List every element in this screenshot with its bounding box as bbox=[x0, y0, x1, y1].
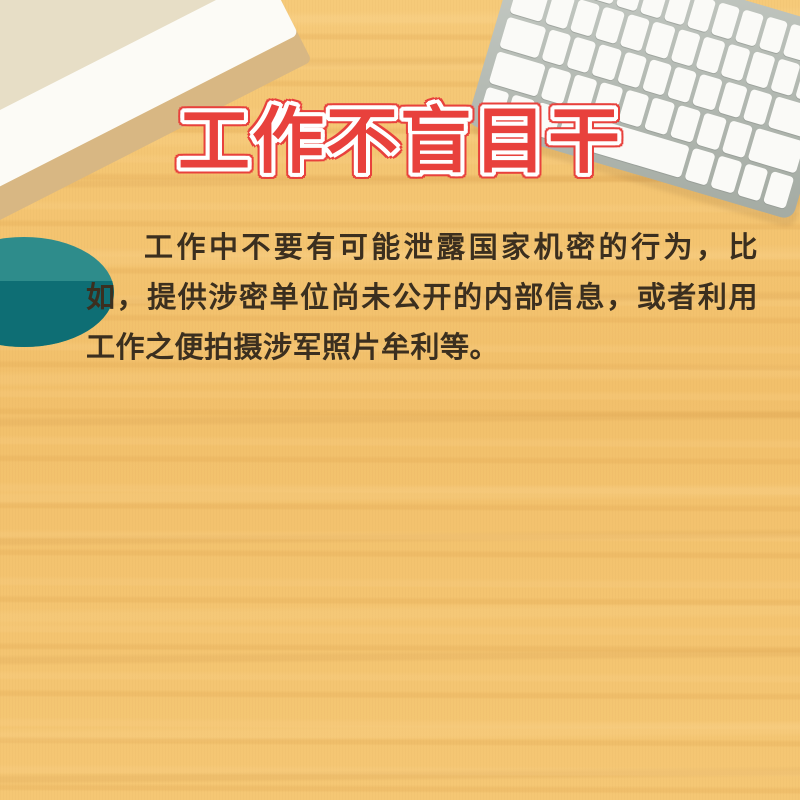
keyboard-key bbox=[720, 43, 750, 81]
keyboard-key bbox=[692, 73, 723, 111]
keyboard-body bbox=[466, 0, 800, 221]
keyboard-key bbox=[592, 44, 623, 82]
keyboard-key bbox=[645, 21, 675, 59]
keyboard-key-arrow bbox=[763, 171, 795, 209]
keyboard-key bbox=[717, 81, 748, 119]
keyboard-key bbox=[695, 36, 725, 74]
keyboard-key bbox=[696, 113, 727, 151]
keyboard-key-cmd bbox=[530, 102, 562, 140]
body-paragraph: 工作中不要有可能泄露国家机密的行为，比如，提供涉密单位尚未公开的内部信息，或者利… bbox=[86, 222, 758, 372]
keyboard-key-alt-right bbox=[711, 156, 743, 194]
poster-canvas: 工作不盲目干 工作中不要有可能泄露国家机密的行为，比如，提供涉密单位尚未公开的内… bbox=[0, 0, 800, 800]
keyboard-illustration bbox=[466, 0, 800, 221]
keyboard-key bbox=[721, 120, 752, 158]
keyboard-key bbox=[644, 97, 675, 135]
keyboard-key bbox=[770, 58, 800, 96]
keyboard-key bbox=[670, 105, 701, 143]
keyboard-key-arrow bbox=[737, 163, 769, 201]
keyboard-key bbox=[670, 28, 700, 66]
keyboard-key-caps bbox=[499, 16, 547, 59]
